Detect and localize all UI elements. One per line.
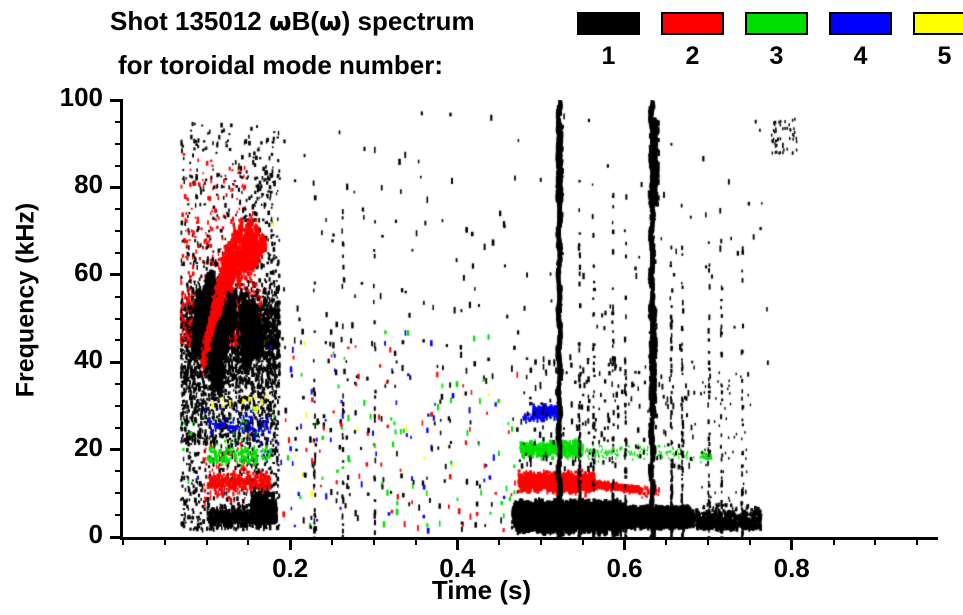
- y-tick-major-20: [110, 448, 123, 451]
- legend-label-3: 3: [745, 42, 808, 71]
- omega-symbol-2: ω: [319, 7, 342, 37]
- legend-swatch-2: [661, 12, 724, 35]
- page-subtitle: for toroidal mode number:: [118, 50, 443, 81]
- y-tick-minor-95: [115, 121, 123, 123]
- legend-label-4: 4: [829, 42, 892, 71]
- x-tick-minor-0.55: [582, 537, 584, 545]
- legend-swatch-1: [577, 12, 640, 35]
- y-tick-minor-45: [115, 339, 123, 341]
- y-tick-minor-10: [115, 492, 123, 494]
- legend-swatch-4: [829, 12, 892, 35]
- title-b-text: B(: [292, 6, 319, 36]
- y-tick-minor-70: [115, 230, 123, 232]
- x-tick-minor-0.95: [916, 537, 918, 545]
- x-tick-minor-0.75: [749, 537, 751, 545]
- legend-item-4: 4: [829, 12, 892, 35]
- y-tick-minor-55: [115, 296, 123, 298]
- x-tick-major-0.60: [623, 537, 626, 550]
- y-tick-minor-5: [115, 514, 123, 516]
- x-tick-minor-0.70: [707, 537, 709, 545]
- legend-swatch-5: [913, 12, 963, 35]
- title-shot-text: Shot 135012: [110, 6, 269, 36]
- x-tick-minor-0.25: [331, 537, 333, 545]
- page-title: Shot 135012 ωB(ω) spectrum: [110, 6, 475, 37]
- legend-label-2: 2: [661, 42, 724, 71]
- y-tick-label-100: 100: [13, 82, 103, 113]
- y-tick-major-100: [110, 99, 123, 102]
- x-tick-minor-0.00: [122, 537, 124, 545]
- y-tick-label-80: 80: [13, 169, 103, 200]
- y-tick-major-40: [110, 361, 123, 364]
- x-tick-minor-0.65: [665, 537, 667, 545]
- x-tick-minor-0.10: [206, 537, 208, 545]
- y-tick-major-60: [110, 273, 123, 276]
- y-tick-minor-50: [115, 318, 123, 320]
- x-tick-minor-0.85: [833, 537, 835, 545]
- title-spectrum-text: ) spectrum: [342, 6, 475, 36]
- legend-item-1: 1: [577, 12, 640, 35]
- x-tick-major-0.80: [790, 537, 793, 550]
- x-tick-major-0.40: [456, 537, 459, 550]
- x-tick-minor-0.05: [164, 537, 166, 545]
- y-tick-minor-85: [115, 165, 123, 167]
- x-tick-minor-0.35: [415, 537, 417, 545]
- y-tick-minor-75: [115, 208, 123, 210]
- legend-swatch-3: [745, 12, 808, 35]
- legend-item-2: 2: [661, 12, 724, 35]
- legend-label-5: 5: [913, 42, 963, 71]
- y-tick-label-20: 20: [13, 432, 103, 463]
- y-tick-label-0: 0: [13, 519, 103, 550]
- legend-item-3: 3: [745, 12, 808, 35]
- x-tick-minor-0.45: [498, 537, 500, 545]
- x-tick-major-0.20: [289, 537, 292, 550]
- y-tick-minor-35: [115, 383, 123, 385]
- x-tick-minor-0.90: [874, 537, 876, 545]
- omega-symbol-1: ω: [269, 7, 292, 37]
- legend-label-1: 1: [577, 42, 640, 71]
- y-tick-minor-90: [115, 143, 123, 145]
- spectrogram-canvas: [123, 100, 938, 537]
- x-tick-minor-0.15: [247, 537, 249, 545]
- legend-item-5: 5: [913, 12, 963, 35]
- y-axis-label: Frequency (kHz): [12, 203, 41, 397]
- y-tick-minor-65: [115, 252, 123, 254]
- y-tick-minor-30: [115, 405, 123, 407]
- spectrogram-figure: Shot 135012 ωB(ω) spectrum for toroidal …: [0, 0, 963, 615]
- legend: 12345: [577, 12, 957, 92]
- y-axis-label-wrap: Frequency (kHz): [28, 100, 32, 537]
- x-axis-label: Time (s): [0, 575, 963, 606]
- y-tick-minor-15: [115, 470, 123, 472]
- x-tick-minor-0.50: [540, 537, 542, 545]
- plot-area: 0204060801000.20.40.60.8: [120, 100, 938, 540]
- y-tick-minor-25: [115, 427, 123, 429]
- y-tick-major-80: [110, 186, 123, 189]
- x-tick-minor-0.30: [373, 537, 375, 545]
